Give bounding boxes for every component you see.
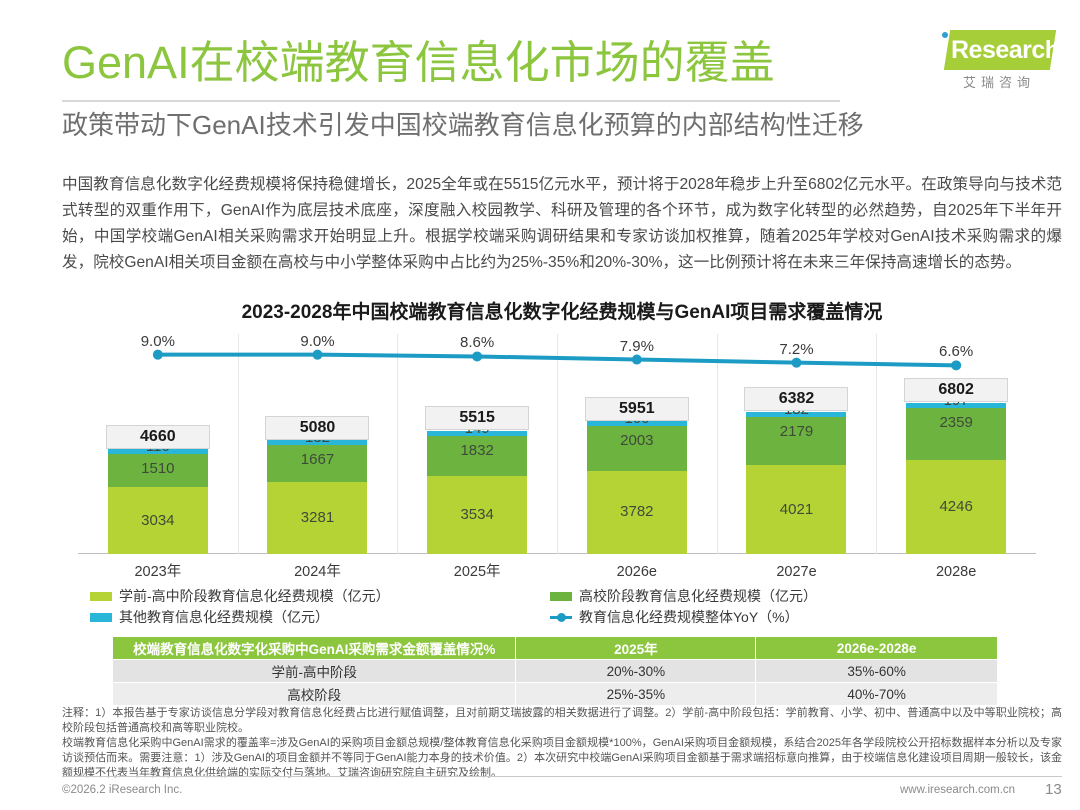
yoy-value-label: 8.6% [442,334,512,352]
page-title: GenAI在校端教育信息化市场的覆盖 [62,36,775,90]
chart-legend: 学前-高中阶段教育信息化经费规模（亿元）高校阶段教育信息化经费规模（亿元）其他教… [90,586,990,628]
stacked-bar[interactable]: 11615103034 [108,449,208,554]
title-divider [62,100,840,102]
footnote-line-1: 注释：1）本报告基于专家访谈信息分学段对教育信息化经费占比进行赋值调整，且对前期… [62,706,1062,736]
x-axis-label: 2023年 [98,562,218,582]
page-subtitle: 政策带动下GenAI技术引发中国校端教育信息化预算的内部结构性迁移 [62,108,864,142]
page-number: 13 [1045,780,1062,800]
bar-segment-k12[interactable]: 3034 [108,487,208,554]
x-axis-label: 2024年 [258,562,378,582]
logo-chinese-name: 艾瑞咨询 [945,74,1053,92]
coverage-table: 校端教育信息化数字化采购中GenAI采购需求金额覆盖情况%2025年2026e-… [112,636,998,706]
footnote-line-2: 校端教育信息化采购中GenAI需求的覆盖率=涉及GenAI的采购项目金额总规模/… [62,736,1062,781]
bar-total-label: 4660 [106,425,210,449]
bar-total-label: 6382 [744,387,848,411]
table-row: 学前-高中阶段20%-30%35%-60% [113,660,998,683]
footer-divider [62,776,1062,777]
stacked-bar[interactable]: 16620033782 [587,421,687,554]
table-cell: 高校阶段 [113,683,516,706]
bar-segment-value: 2179 [746,423,846,441]
yoy-value-label: 9.0% [283,333,353,351]
yoy-value-label: 6.6% [921,343,991,361]
swatch-uni-icon [550,592,572,601]
yoy-value-label: 7.2% [762,341,832,359]
bar-segment-value: 4021 [746,501,846,519]
bar-segment-uni[interactable]: 2003 [587,426,687,470]
bar-segment-uni[interactable]: 2179 [746,417,846,465]
bar-total-label: 5515 [425,406,529,430]
line-yoy-icon [550,613,572,622]
table-row: 高校阶段25%-35%40%-70% [113,683,998,706]
bar-segment-value: 1510 [108,460,208,478]
stacked-bar[interactable]: 13216673281 [267,440,367,554]
x-axis-label: 2026e [577,562,697,582]
table-header-cell: 2026e-2028e [756,637,998,660]
bar-total-label: 5080 [265,416,369,440]
table-header-cell: 校端教育信息化数字化采购中GenAI采购需求金额覆盖情况% [113,637,516,660]
bar-segment-k12[interactable]: 3534 [427,476,527,554]
bar-segment-value: 2003 [587,432,687,450]
legend-item[interactable]: 高校阶段教育信息化经费规模（亿元） [550,586,817,606]
legend-item[interactable]: 教育信息化经费规模整体YoY（%） [550,607,799,627]
bar-segment-value: 1832 [427,442,527,460]
bar-segment-k12[interactable]: 4021 [746,465,846,554]
table-header-cell: 2025年 [516,637,756,660]
stacked-bar[interactable]: 18221794021 [746,412,846,554]
page-header: GenAI在校端教育信息化市场的覆盖 政策带动下GenAI技术引发中国校端教育信… [0,0,1080,150]
slide-page: GenAI在校端教育信息化市场的覆盖 政策带动下GenAI技术引发中国校端教育信… [0,0,1080,810]
bar-segment-value: 4246 [906,498,1006,516]
bar-segment-uni[interactable]: 2359 [906,408,1006,460]
bar-group: 116151030344660 [78,334,238,554]
chart-title: 2023-2028年中国校端教育信息化数字化经费规模与GenAI项目需求覆盖情况 [62,300,1062,326]
table-cell: 学前-高中阶段 [113,660,516,683]
chart-plot-area: 1161510303446601321667328150801491832353… [78,334,1036,554]
table-cell: 40%-70% [756,683,998,706]
logo-letter-i: i [939,34,946,67]
body-paragraph: 中国教育信息化数字化经费规模将保持稳健增长，2025全年或在5515亿元水平，预… [62,172,1062,276]
swatch-k12-icon [90,592,112,601]
iresearch-logo: i Research 艾瑞咨询 [935,28,1055,102]
bar-segment-value: 3034 [108,512,208,530]
legend-label: 其他教育信息化经费规模（亿元） [119,607,329,627]
website-url: www.iresearch.com.cn [900,782,1015,798]
bar-segment-value: 1667 [267,451,367,469]
bar-total-label: 6802 [904,378,1008,402]
bar-group: 182217940216382 [717,334,877,554]
table-header-row: 校端教育信息化数字化采购中GenAI采购需求金额覆盖情况%2025年2026e-… [113,637,998,660]
bar-total-label: 5951 [585,397,689,421]
bar-group: 166200337825951 [557,334,717,554]
bar-segment-value: 3534 [427,506,527,524]
legend-label: 学前-高中阶段教育信息化经费规模（亿元） [119,586,390,606]
table-cell: 35%-60% [756,660,998,683]
bar-segment-k12[interactable]: 3782 [587,471,687,554]
legend-item[interactable]: 其他教育信息化经费规模（亿元） [90,607,329,627]
copyright-text: ©2026.2 iResearch Inc. [62,782,182,798]
yoy-value-label: 7.9% [602,338,672,356]
legend-label: 教育信息化经费规模整体YoY（%） [579,607,799,627]
logo-wordmark: Research [951,34,1055,68]
bar-segment-k12[interactable]: 3281 [267,482,367,554]
bar-segment-value: 3782 [587,503,687,521]
x-axis-labels: 2023年2024年2025年2026e2027e2028e [78,562,1036,584]
table-cell: 20%-30% [516,660,756,683]
x-axis-label: 2027e [737,562,857,582]
bar-group: 132166732815080 [238,334,398,554]
stacked-bar[interactable]: 14918323534 [427,431,527,554]
x-axis-label: 2028e [896,562,1016,582]
bar-segment-uni[interactable]: 1667 [267,445,367,482]
yoy-value-label: 9.0% [123,333,193,351]
footnotes: 注释：1）本报告基于专家访谈信息分学段对教育信息化经费占比进行赋值调整，且对前期… [62,706,1062,781]
bar-segment-uni[interactable]: 1510 [108,454,208,487]
bar-segment-value: 2359 [906,414,1006,432]
swatch-other-icon [90,613,112,622]
table-cell: 25%-35% [516,683,756,706]
bar-segment-value: 3281 [267,509,367,527]
legend-item[interactable]: 学前-高中阶段教育信息化经费规模（亿元） [90,586,390,606]
bar-group: 197235942466802 [876,334,1036,554]
bar-segment-uni[interactable]: 1832 [427,436,527,476]
legend-label: 高校阶段教育信息化经费规模（亿元） [579,586,817,606]
x-axis-label: 2025年 [417,562,537,582]
bar-group: 149183235345515 [397,334,557,554]
bar-segment-k12[interactable]: 4246 [906,460,1006,554]
stacked-bar[interactable]: 19723594246 [906,403,1006,554]
